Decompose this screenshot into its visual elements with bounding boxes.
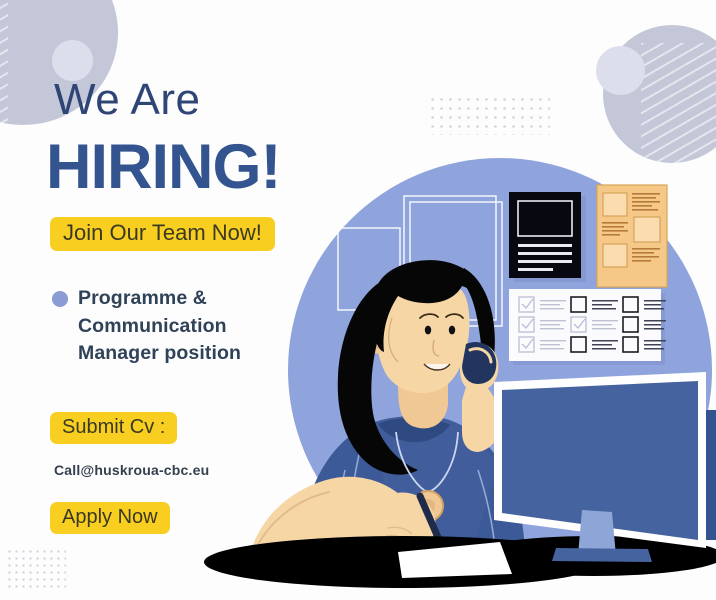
submit-block: Submit Cv : Call@huskroua-cbc.eu <box>46 412 376 478</box>
hiring-poster: We Are HIRING! Join Our Team Now! Progra… <box>0 0 716 600</box>
role-title: Programme & Communication Manager positi… <box>78 285 293 368</box>
join-team-badge[interactable]: Join Our Team Now! <box>50 217 275 251</box>
submit-cv-badge[interactable]: Submit Cv : <box>50 412 177 444</box>
apply-now-button[interactable]: Apply Now <box>50 502 170 534</box>
bullet-icon <box>52 291 68 307</box>
contact-email[interactable]: Call@huskroua-cbc.eu <box>54 462 376 478</box>
headline-large: HIRING! <box>46 136 376 199</box>
apply-block: Apply Now <box>46 502 376 534</box>
headline-small: We Are <box>54 78 376 122</box>
text-column: We Are HIRING! Join Our Team Now! Progra… <box>46 78 376 534</box>
monitor-icon <box>494 372 706 562</box>
role-block: Programme & Communication Manager positi… <box>52 285 376 368</box>
